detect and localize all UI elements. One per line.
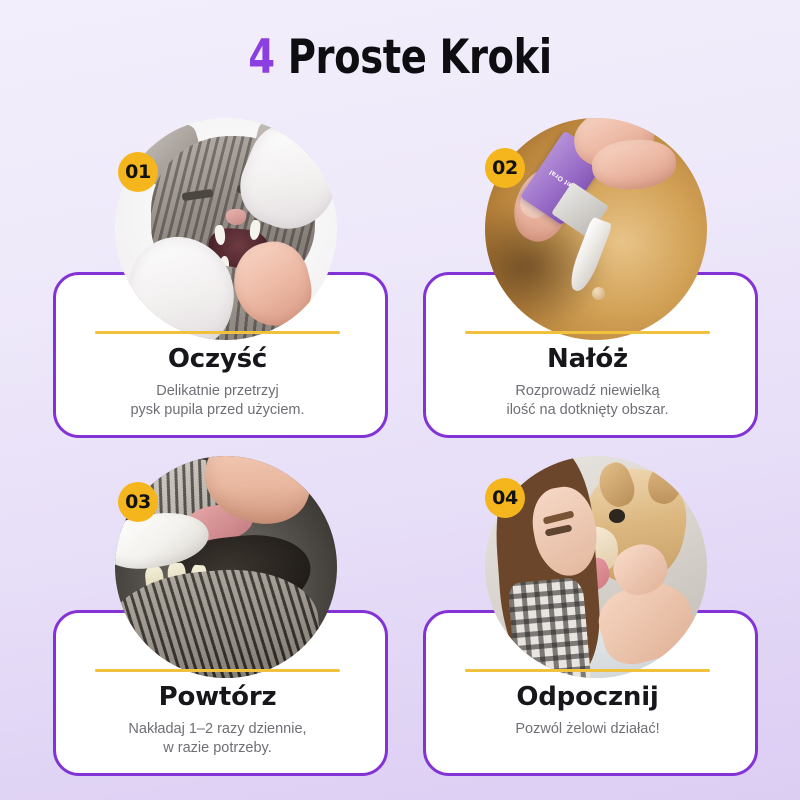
steps-grid: Oczyść Delikatnie przetrzyj pysk pupila … xyxy=(0,118,800,798)
step-badge-1: 01 xyxy=(118,152,158,192)
step-card-3[interactable]: Powtórz Nakładaj 1–2 razy dziennie, w ra… xyxy=(53,456,398,776)
page-title-text: Proste Kroki xyxy=(275,30,552,85)
page-title: 4 Proste Kroki xyxy=(0,34,800,81)
gel-tube-apply-photo: Pet Oral xyxy=(485,118,707,340)
step-card-2[interactable]: Nałóż Rozprowadź niewielką ilość na dotk… xyxy=(423,118,768,438)
page-title-number: 4 xyxy=(248,30,274,85)
step-card-1[interactable]: Oczyść Delikatnie przetrzyj pysk pupila … xyxy=(53,118,398,438)
step-badge-3: 03 xyxy=(118,482,158,522)
cat-mouth-wipe-photo xyxy=(115,118,337,340)
step-card-4[interactable]: Odpocznij Pozwól żelowi działać! xyxy=(423,456,768,776)
step-badge-4: 04 xyxy=(485,478,525,518)
step-badge-2: 02 xyxy=(485,148,525,188)
